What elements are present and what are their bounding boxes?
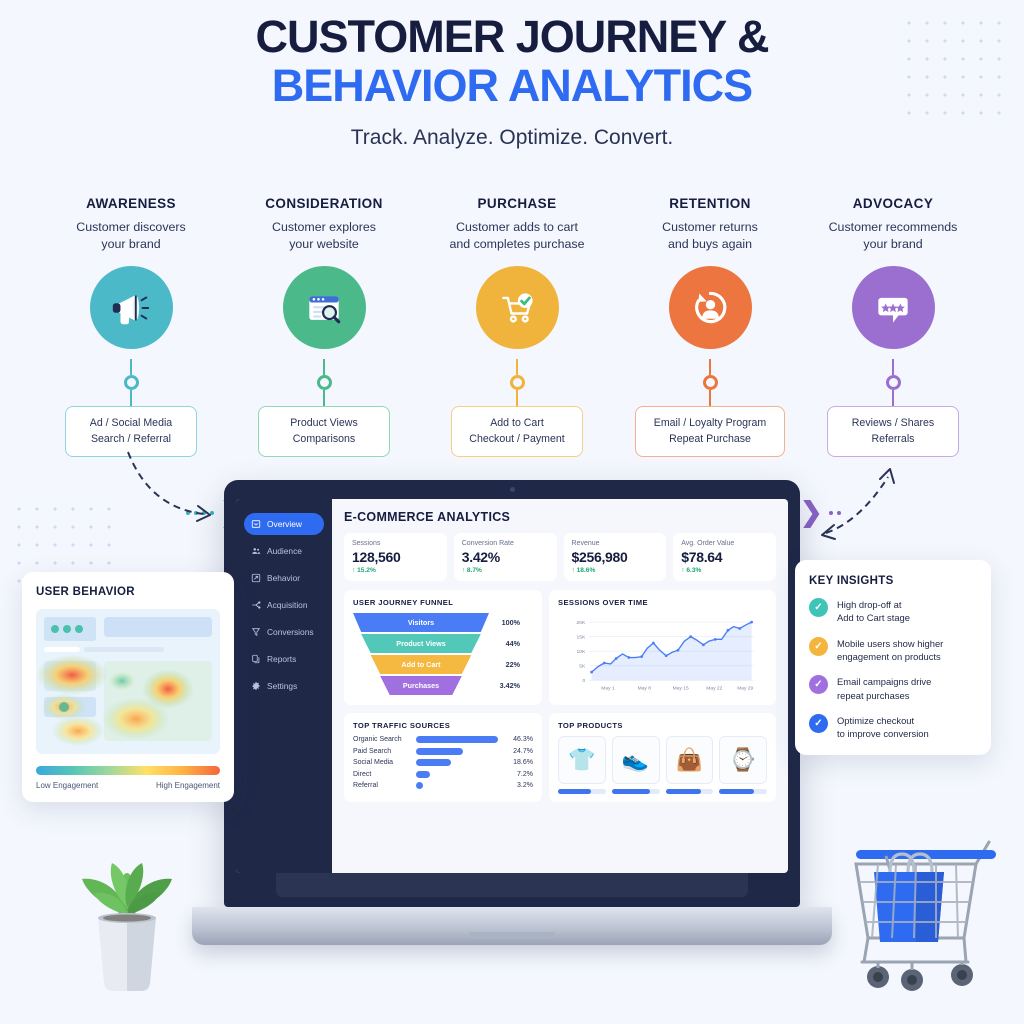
sidebar-item-audience[interactable]: Audience <box>244 540 324 562</box>
svg-text:0: 0 <box>582 678 585 684</box>
stage-name: PURCHASE <box>424 196 610 211</box>
kpi-label: Revenue <box>572 540 659 547</box>
top-products-card: TOP PRODUCTS 👕 👟 👜 <box>549 713 776 802</box>
people-icon <box>251 546 261 556</box>
kpi-label: Sessions <box>352 540 439 547</box>
insight-text: Mobile users show higher engagement on p… <box>837 637 943 664</box>
insight-item: ✓ High drop-off at Add to Cart stage <box>809 598 977 625</box>
sidebar-label: Conversions <box>267 627 314 637</box>
sidebar-item-settings[interactable]: Settings <box>244 675 324 697</box>
kpi-label: Conversion Rate <box>462 540 549 547</box>
heatmap-legend-labels: Low Engagement High Engagement <box>36 781 220 790</box>
sneaker-icon: 👟 <box>612 736 660 784</box>
funnel-row: Product Views 44% <box>353 634 533 653</box>
sidebar-label: Audience <box>267 546 302 556</box>
funnel-pct: 44% <box>494 639 520 648</box>
sidebar-label: Behavior <box>267 573 300 583</box>
legend-low-label: Low Engagement <box>36 781 98 790</box>
stage-desc: Customer returns and buys again <box>617 219 803 253</box>
kpi-label: Avg. Order Value <box>681 540 768 547</box>
stage-name: CONSIDERATION <box>231 196 417 211</box>
traffic-value: 46.3% <box>509 736 533 743</box>
insight-text: Optimize checkout to improve conversion <box>837 714 929 741</box>
sessions-title: SESSIONS OVER TIME <box>558 598 767 607</box>
arrow-right-to-panel <box>812 455 912 545</box>
check-icon: ✓ <box>809 637 828 656</box>
stage-tag-box: Add to Cart Checkout / Payment <box>451 406 583 457</box>
stage-tag-box: Email / Loyalty Program Repeat Purchase <box>635 406 785 457</box>
stage-name: RETENTION <box>617 196 803 211</box>
traffic-value: 18.6% <box>509 759 533 766</box>
laptop-mockup: Overview Audience Behavior Acquisition C… <box>224 480 800 945</box>
kpi-delta: ↑ 8.7% <box>462 567 549 574</box>
product-item[interactable]: 👕 <box>558 736 606 794</box>
traffic-row: Social Media 18.6% <box>353 759 533 766</box>
laptop-notch <box>469 932 555 939</box>
journey-stage-awareness[interactable]: AWARENESS Customer discovers your brand … <box>38 196 224 457</box>
check-icon: ✓ <box>809 598 828 617</box>
svg-text:10K: 10K <box>577 649 586 655</box>
journey-stage-consideration[interactable]: CONSIDERATION Customer explores your web… <box>231 196 417 457</box>
kpi-value: $78.64 <box>681 549 768 565</box>
traffic-row: Paid Search 24.7% <box>353 748 533 755</box>
dashboard-screen: Overview Audience Behavior Acquisition C… <box>236 499 788 873</box>
stage-knob <box>703 375 718 390</box>
kpi-value: $256,980 <box>572 549 659 565</box>
funnel-bar: Add to Cart <box>353 655 489 674</box>
kpi-delta: ↑ 18.6% <box>572 567 659 574</box>
charts-row-2: TOP TRAFFIC SOURCES Organic Search 46.3%… <box>344 713 776 802</box>
stage-tag-box: Reviews / Shares Referrals <box>827 406 959 457</box>
funnel-title: USER JOURNEY FUNNEL <box>353 598 533 607</box>
charts-row-1: USER JOURNEY FUNNEL Visitors 100% Produc… <box>344 590 776 705</box>
heatmap-legend-gradient <box>36 766 220 775</box>
sidebar-item-behavior[interactable]: Behavior <box>244 567 324 589</box>
funnel-bar: Product Views <box>353 634 489 653</box>
product-item[interactable]: 👟 <box>612 736 660 794</box>
stage-name: ADVOCACY <box>800 196 986 211</box>
traffic-label: Organic Search <box>353 736 411 743</box>
reports-icon <box>251 654 261 664</box>
stage-desc: Customer discovers your brand <box>38 219 224 253</box>
traffic-row: Organic Search 46.3% <box>353 736 533 743</box>
watch-icon: ⌚ <box>719 736 767 784</box>
check-icon: ✓ <box>809 714 828 733</box>
journey-stage-retention[interactable]: RETENTION Customer returns and buys agai… <box>617 196 803 457</box>
page-title-line1: CUSTOMER JOURNEY & <box>0 14 1024 60</box>
sidebar-label: Reports <box>267 654 296 664</box>
stage-desc: Customer explores your website <box>231 219 417 253</box>
svg-text:May 1: May 1 <box>601 685 615 691</box>
page-header: CUSTOMER JOURNEY & BEHAVIOR ANALYTICS Tr… <box>0 0 1024 150</box>
product-item[interactable]: ⌚ <box>719 736 767 794</box>
sidebar-label: Acquisition <box>267 600 308 610</box>
traffic-value: 3.2% <box>509 782 533 789</box>
sidebar-label: Overview <box>267 519 302 529</box>
stage-desc: Customer recommends your brand <box>800 219 986 253</box>
page-subtitle: Track. Analyze. Optimize. Convert. <box>0 126 1024 150</box>
funnel-pct: 100% <box>494 618 520 627</box>
svg-text:20K: 20K <box>577 620 586 626</box>
user-behavior-panel: USER BEHAVIOR Low Eng <box>22 572 234 802</box>
handbag-icon: 👜 <box>666 736 714 784</box>
kpi-card-conversion-rate[interactable]: Conversion Rate 3.42% ↑ 8.7% <box>454 533 557 581</box>
sidebar-item-conversions[interactable]: Conversions <box>244 621 324 643</box>
dot-grid-top-right <box>900 14 1010 124</box>
svg-text:May 8: May 8 <box>638 685 652 691</box>
svg-text:5K: 5K <box>579 664 586 670</box>
insight-item: ✓ Email campaigns drive repeat purchases <box>809 675 977 702</box>
laptop-lid: Overview Audience Behavior Acquisition C… <box>224 480 800 907</box>
funnel-icon <box>251 627 261 637</box>
product-item[interactable]: 👜 <box>666 736 714 794</box>
megaphone-icon <box>90 266 173 349</box>
key-insights-panel: KEY INSIGHTS ✓ High drop-off at Add to C… <box>795 560 991 755</box>
sidebar-label: Settings <box>267 681 297 691</box>
sessions-chart-card: SESSIONS OVER TIME 20K15K 10K5K0 <box>549 590 776 705</box>
kpi-value: 3.42% <box>462 549 549 565</box>
journey-stage-advocacy[interactable]: ADVOCACY Customer recommends your brand … <box>800 196 986 457</box>
svg-text:May 15: May 15 <box>673 685 689 691</box>
kpi-value: 128,560 <box>352 549 439 565</box>
journey-stage-purchase[interactable]: PURCHASE Customer adds to cart and compl… <box>424 196 610 457</box>
heatmap-visual <box>36 609 220 754</box>
dashboard-icon <box>251 519 261 529</box>
sessions-area-chart: 20K15K 10K5K0 <box>558 613 767 693</box>
funnel-pct: 22% <box>494 660 520 669</box>
insight-item: ✓ Mobile users show higher engagement on… <box>809 637 977 664</box>
insight-item: ✓ Optimize checkout to improve conversio… <box>809 714 977 741</box>
tshirt-icon: 👕 <box>558 736 606 784</box>
stage-tag-box: Product Views Comparisons <box>258 406 390 457</box>
insights-panel-title: KEY INSIGHTS <box>809 575 977 587</box>
stage-knob <box>317 375 332 390</box>
laptop-hinge <box>276 873 748 897</box>
traffic-sources-card: TOP TRAFFIC SOURCES Organic Search 46.3%… <box>344 713 542 802</box>
page-title-line2: BEHAVIOR ANALYTICS <box>0 62 1024 109</box>
traffic-label: Social Media <box>353 759 411 766</box>
kpi-delta: ↑ 6.3% <box>681 567 768 574</box>
funnel-card: USER JOURNEY FUNNEL Visitors 100% Produc… <box>344 590 542 705</box>
laptop-base <box>192 907 832 945</box>
kpi-card-avg-order-value[interactable]: Avg. Order Value $78.64 ↑ 6.3% <box>673 533 776 581</box>
kpi-card-revenue[interactable]: Revenue $256,980 ↑ 18.6% <box>564 533 667 581</box>
sidebar-item-overview[interactable]: Overview <box>244 513 324 535</box>
stage-knob <box>510 375 525 390</box>
browser-search-icon <box>283 266 366 349</box>
behavior-panel-title: USER BEHAVIOR <box>36 586 220 598</box>
funnel-row: Visitors 100% <box>353 613 533 632</box>
shopping-cart-icon <box>826 812 1006 1002</box>
behavior-icon <box>251 573 261 583</box>
review-stars-icon <box>852 266 935 349</box>
stage-knob <box>124 375 139 390</box>
gear-icon <box>251 681 261 691</box>
stage-desc: Customer adds to cart and completes purc… <box>424 219 610 253</box>
traffic-row: Direct 7.2% <box>353 771 533 778</box>
kpi-row: Sessions 128,560 ↑ 15.2% Conversion Rate… <box>344 533 776 581</box>
svg-text:May 29: May 29 <box>737 685 753 691</box>
repeat-user-icon <box>669 266 752 349</box>
traffic-value: 7.2% <box>509 771 533 778</box>
acquisition-icon <box>251 600 261 610</box>
arrow-left-to-laptop <box>120 448 230 538</box>
dashboard-title: E-COMMERCE ANALYTICS <box>344 510 776 524</box>
stage-name: AWARENESS <box>38 196 224 211</box>
traffic-value: 24.7% <box>509 748 533 755</box>
traffic-title: TOP TRAFFIC SOURCES <box>353 721 533 730</box>
svg-text:May 22: May 22 <box>706 685 722 691</box>
kpi-card-sessions[interactable]: Sessions 128,560 ↑ 15.2% <box>344 533 447 581</box>
insight-text: Email campaigns drive repeat purchases <box>837 675 931 702</box>
products-title: TOP PRODUCTS <box>558 721 767 730</box>
dashboard-content: E-COMMERCE ANALYTICS Sessions 128,560 ↑ … <box>332 499 788 873</box>
funnel-bar: Purchases <box>353 676 489 695</box>
funnel-bar: Visitors <box>353 613 489 632</box>
stage-knob <box>886 375 901 390</box>
funnel-pct: 3.42% <box>494 681 520 690</box>
journey-stages: AWARENESS Customer discovers your brand … <box>0 196 1024 456</box>
kpi-delta: ↑ 15.2% <box>352 567 439 574</box>
sidebar-item-reports[interactable]: Reports <box>244 648 324 670</box>
funnel-row: Add to Cart 22% <box>353 655 533 674</box>
cart-check-icon <box>476 266 559 349</box>
legend-high-label: High Engagement <box>156 781 220 790</box>
check-icon: ✓ <box>809 675 828 694</box>
svg-text:15K: 15K <box>577 634 586 640</box>
webcam-icon <box>510 487 515 492</box>
traffic-label: Referral <box>353 782 411 789</box>
dashboard-sidebar: Overview Audience Behavior Acquisition C… <box>236 499 332 873</box>
insight-text: High drop-off at Add to Cart stage <box>837 598 910 625</box>
traffic-row: Referral 3.2% <box>353 782 533 789</box>
funnel-row: Purchases 3.42% <box>353 676 533 695</box>
traffic-label: Paid Search <box>353 748 411 755</box>
traffic-label: Direct <box>353 771 411 778</box>
products-list: 👕 👟 👜 ⌚ <box>558 736 767 794</box>
sidebar-item-acquisition[interactable]: Acquisition <box>244 594 324 616</box>
potted-plant-icon <box>62 845 192 995</box>
